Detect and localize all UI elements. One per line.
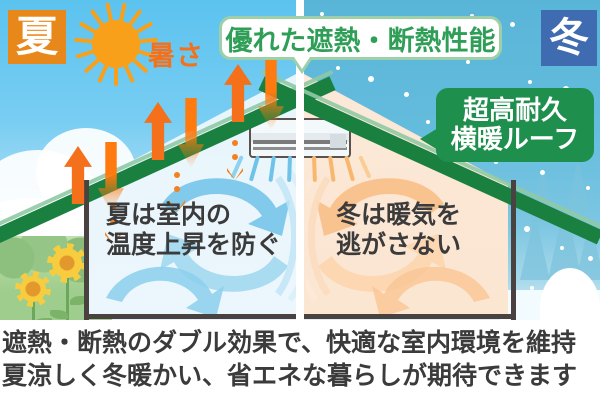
blocked-heat-dot [174,172,180,178]
house-wall-right [511,180,516,320]
product-name-line1: 超高耐久 [463,96,567,125]
summer-caption-line1: 夏は室内の [106,200,281,230]
heat-label: 暑さ [148,34,204,73]
blocked-heat-dot [232,140,238,146]
summer-caption: 夏は室内の 温度上昇を防ぐ [106,200,281,260]
bubble-tail-inner [294,57,310,69]
snowflake-icon [426,120,430,124]
snowflake-icon [540,170,545,175]
winter-caption: 冬は暖気を 逃がさない [336,200,461,260]
performance-callout-bubble: 優れた遮熱・断熱性能 [219,16,502,60]
product-name-line2: 横暖ルーフ [451,125,579,154]
bottom-caption-line1: 遮熱・断熱のダブル効果で、快適な室内環境を維持 [0,327,600,360]
blocked-heat-dot [232,154,238,160]
snowflake-icon [528,80,532,84]
snowflake-icon [560,246,564,250]
snowflake-icon [524,226,530,232]
performance-callout-text: 優れた遮熱・断熱性能 [226,19,496,58]
winter-caption-line2: 逃がさない [336,230,461,260]
snowflake-icon [572,300,576,304]
infographic-root: 夏 冬 暑さ 優れた遮熱・断熱性能 超高耐久 横暖ルーフ 夏は室内の 温度上昇を… [0,0,600,400]
season-badge-winter-label: 冬 [549,18,589,58]
bottom-caption: 遮熱・断熱のダブル効果で、快適な室内環境を維持 夏涼しく冬暖かい、省エネな暮らし… [0,320,600,400]
illustration-scene: 夏 冬 暑さ 優れた遮熱・断熱性能 超高耐久 横暖ルーフ 夏は室内の 温度上昇を… [0,0,600,320]
winter-caption-line1: 冬は暖気を [336,200,461,230]
blocked-heat-dot [174,186,180,192]
season-badge-summer-label: 夏 [16,16,58,58]
house-floor-right [304,314,516,319]
season-badge-winter: 冬 [541,10,597,66]
snowflake-icon [466,60,470,64]
snowflake-icon [368,76,374,82]
bottom-caption-line2: 夏涼しく冬暖かい、省エネな暮らしが期待できます [0,360,600,393]
snowflake-icon [336,66,340,70]
product-callout-box: 超高耐久 横暖ルーフ [436,88,594,162]
house-wall-left [84,180,89,320]
season-badge-summer: 夏 [8,10,66,64]
snowflake-icon [530,286,534,290]
snowflake-icon [588,256,593,261]
summer-caption-line2: 温度上昇を防ぐ [106,230,281,260]
snowflake-icon [510,22,515,27]
warm-air-stream [312,156,317,182]
snowflake-icon [586,186,590,190]
house-floor-left [84,314,296,319]
snowflake-icon [404,92,409,97]
